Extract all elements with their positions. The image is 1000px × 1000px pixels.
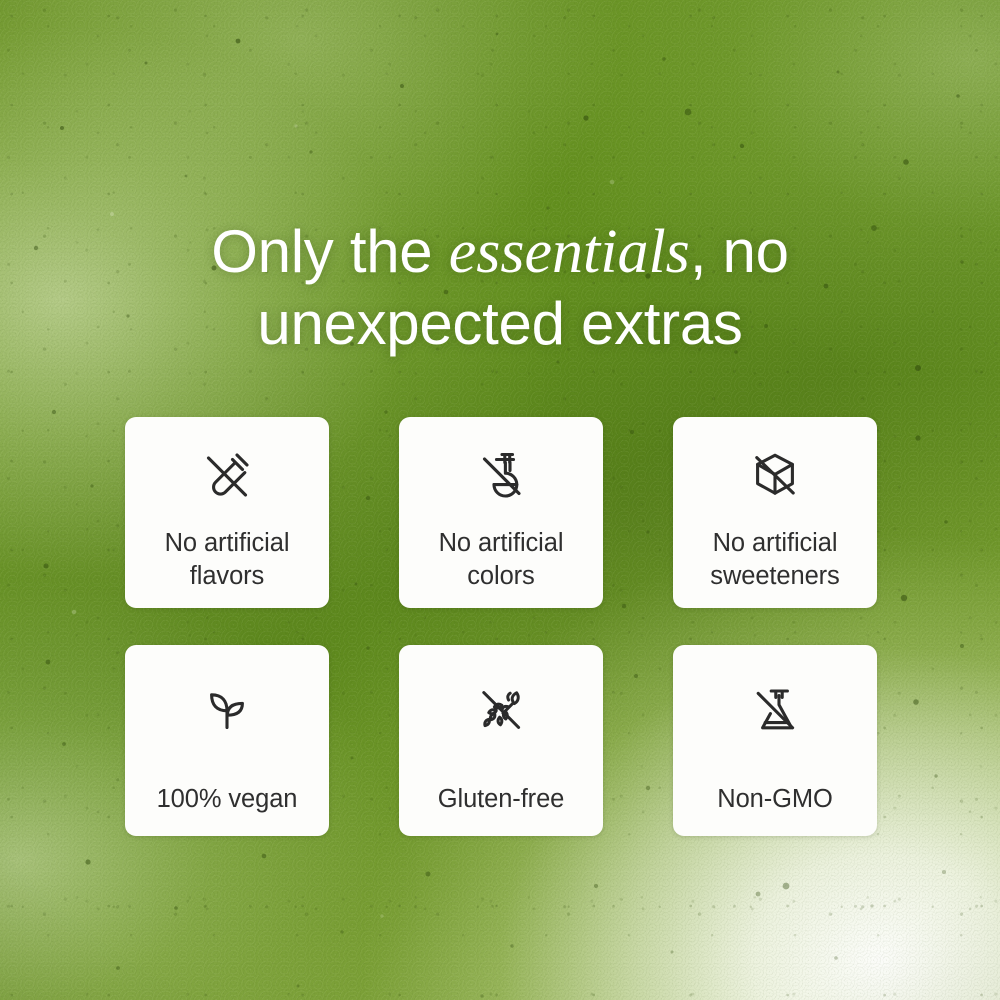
headline-emphasis: essentials [449,218,690,286]
benefit-card-label: Non-GMO [717,783,832,816]
benefit-card-label: No artificial flavors [165,527,290,593]
benefit-card-grid: No artificial flavors No a [125,417,877,836]
benefit-card-label: No artificial colors [439,527,564,593]
test-tube-slashed-icon [196,445,258,505]
promo-graphic: Only the essentials, no unexpected extra… [0,0,1000,1000]
benefit-card-gluten-free[interactable]: Gluten-free [399,645,603,836]
benefit-card-no-artificial-colors[interactable]: No artificial colors [399,417,603,608]
sprout-icon [196,681,258,741]
round-flask-slashed-icon [470,445,532,505]
content-root: Only the essentials, no unexpected extra… [0,0,1000,1000]
benefit-card-no-artificial-flavors[interactable]: No artificial flavors [125,417,329,608]
benefit-card-vegan[interactable]: 100% vegan [125,645,329,836]
conical-flask-slashed-icon [744,681,806,741]
benefit-card-label: 100% vegan [157,783,298,816]
headline-part-1: Only the [211,218,448,285]
wheat-slashed-icon [470,681,532,741]
benefit-card-label: Gluten-free [438,783,564,816]
benefit-card-no-artificial-sweeteners[interactable]: No artificial sweeteners [673,417,877,608]
benefit-card-label: No artificial sweeteners [710,527,839,593]
sugar-cube-slashed-icon [744,445,806,505]
page-title: Only the essentials, no unexpected extra… [0,216,1000,360]
benefit-card-non-gmo[interactable]: Non-GMO [673,645,877,836]
